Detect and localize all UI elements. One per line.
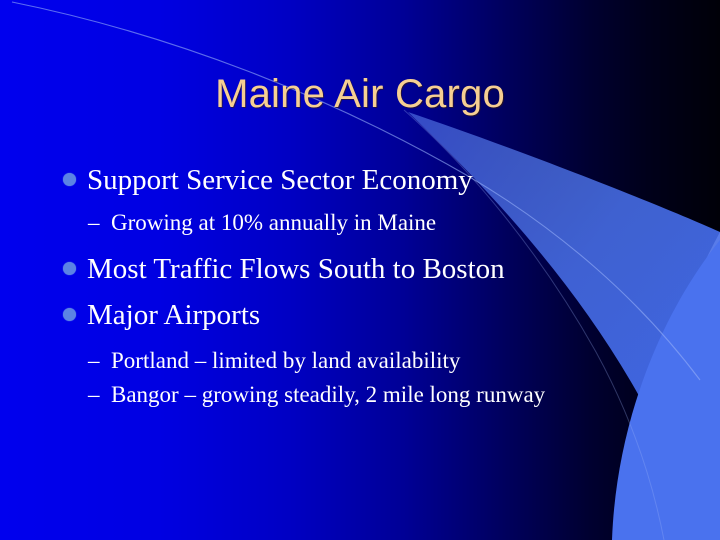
sub-bullet-item: – Portland – limited by land availabilit… [62, 344, 676, 378]
spacer [62, 335, 676, 344]
spacer [62, 240, 676, 249]
dash-marker-icon: – [88, 378, 111, 412]
bullet-text: Most Traffic Flows South to Boston [87, 249, 505, 289]
sub-bullet-item: – Growing at 10% annually in Maine [62, 206, 676, 240]
bullet-item: Support Service Sector Economy [62, 160, 676, 200]
dash-marker-icon: – [88, 206, 111, 240]
sub-bullet-text: Portland – limited by land availability [111, 344, 460, 378]
dash-marker-icon: – [88, 344, 111, 378]
sub-bullet-item: – Bangor – growing steadily, 2 mile long… [62, 378, 676, 412]
sub-bullet-text: Bangor – growing steadily, 2 mile long r… [111, 378, 545, 412]
bullet-item: Most Traffic Flows South to Boston [62, 249, 676, 289]
bullet-text: Major Airports [87, 295, 260, 335]
sub-bullet-text: Growing at 10% annually in Maine [111, 206, 436, 240]
bullet-text: Support Service Sector Economy [87, 160, 473, 200]
presentation-slide: Maine Air Cargo Support Service Sector E… [0, 0, 720, 540]
bullet-item: Major Airports [62, 295, 676, 335]
slide-body-content: Support Service Sector Economy – Growing… [62, 160, 676, 412]
slide-title: Maine Air Cargo [0, 72, 720, 116]
